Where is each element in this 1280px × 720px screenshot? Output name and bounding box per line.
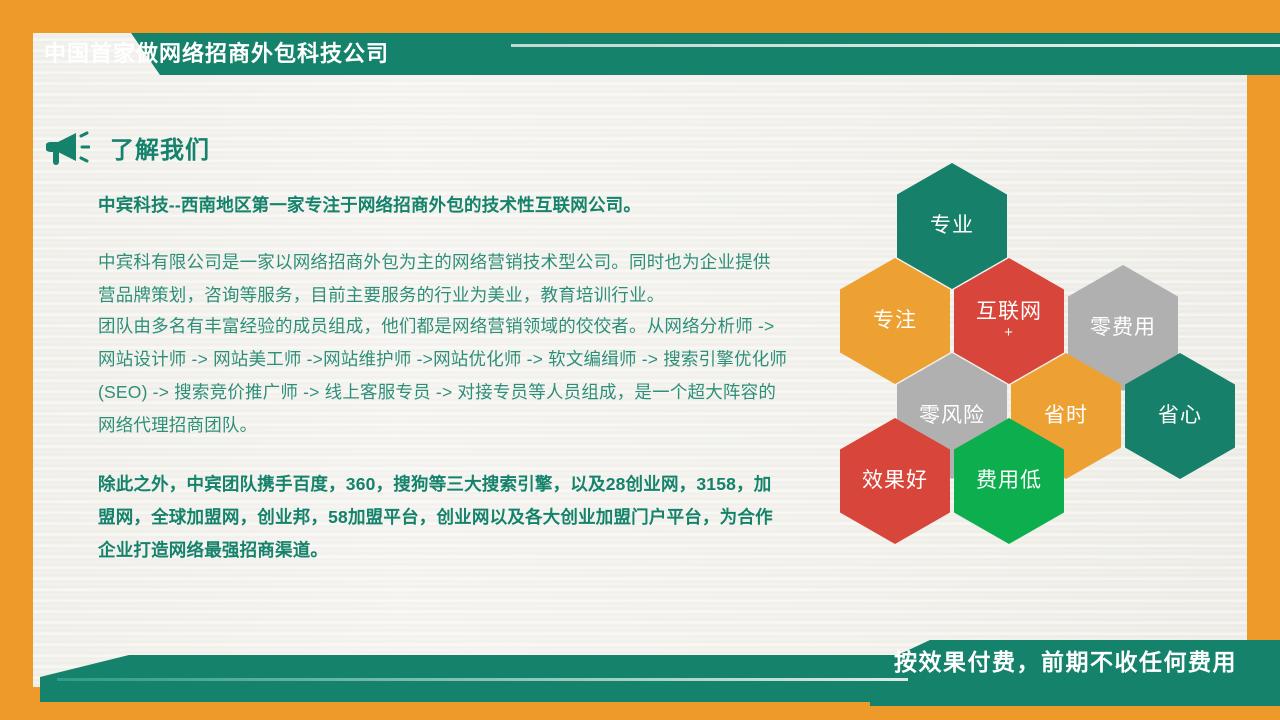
footer-tagline: 按效果付费，前期不收任何费用 [894,645,1237,679]
hexagon-label: 省时 [1044,404,1088,428]
hexagon-label: 效果好 [862,469,928,493]
megaphone-icon [46,131,90,165]
about-copy: 中宾科技--西南地区第一家专注于网络招商外包的技术性互联网公司。 中宾科有限公司… [98,190,788,567]
section-title: 了解我们 [110,130,210,165]
hexagon-label: 互联网+ [976,300,1042,342]
hexagon-label: 零风险 [919,404,985,428]
hexagon-label: 专业 [930,214,974,238]
header-accent-line [511,44,1280,47]
hexagon-cluster: 专业专注互联网+零费用零风险省时省心效果好费用低 [828,155,1248,545]
lead-statement: 中宾科技--西南地区第一家专注于网络招商外包的技术性互联网公司。 [98,190,788,220]
hexagon-label: 专注 [873,309,917,333]
paragraph-one: 中宾科有限公司是一家以网络招商外包为主的网络营销技术型公司。同时也为企业提供营品… [98,246,788,312]
hexagon-label: 省心 [1158,404,1202,428]
closing-statement: 除此之外，中宾团队携手百度，360，搜狗等三大搜索引擎，以及28创业网，3158… [98,468,788,567]
hexagon-sublabel: + [976,324,1042,342]
hexagon-label: 费用低 [976,469,1042,493]
paragraph-two: 团队由多名有丰富经验的成员组成，他们都是网络营销领域的佼佼者。从网络分析师 ->… [98,310,788,442]
hexagon-label: 零费用 [1090,316,1156,340]
section-title-row: 了解我们 [46,130,210,165]
footer-accent-line [57,678,908,681]
header-title: 中国首家做网络招商外包科技公司 [44,38,389,70]
